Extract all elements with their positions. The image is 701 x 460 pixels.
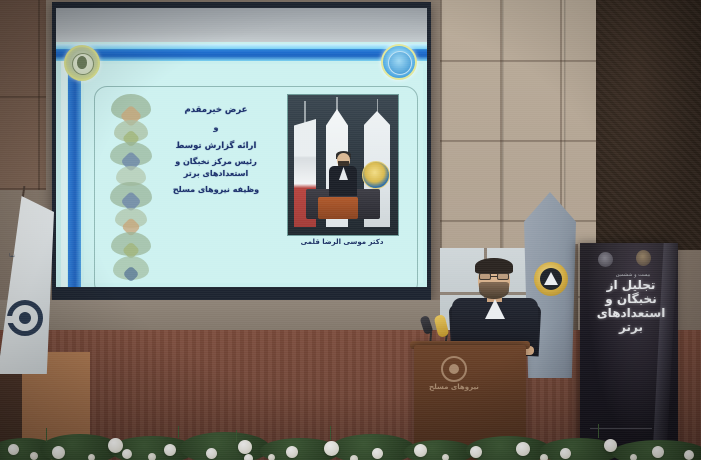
slide-vertical-bar bbox=[68, 61, 81, 287]
main-speaker bbox=[452, 258, 538, 354]
flower-arrangement bbox=[0, 424, 701, 460]
tile-line bbox=[440, 220, 600, 222]
inset-speaker bbox=[328, 153, 358, 195]
blue-globe-emblem-icon bbox=[381, 44, 417, 80]
wall-seam bbox=[0, 96, 46, 98]
inset-photo-caption: دکتر موسی الرضا قلمی bbox=[287, 238, 397, 246]
inset-podium-front bbox=[318, 197, 358, 219]
conference-photo: عرض خیرمقدم و ارائه گزارش توسط رئیس مرکز… bbox=[0, 0, 701, 460]
spiral-circle-logo-icon bbox=[7, 300, 43, 336]
slide-header-band bbox=[56, 44, 427, 61]
speaker-hair bbox=[475, 258, 513, 274]
presentation-slide: عرض خیرمقدم و ارائه گزارش توسط رئیس مرکز… bbox=[56, 42, 427, 287]
slide-line-3: رئیس مرکز نخبگان و استعدادهای برتر bbox=[152, 156, 280, 181]
slide-text-block: عرض خیرمقدم و ارائه گزارش توسط رئیس مرکز… bbox=[152, 104, 280, 196]
tile-line bbox=[440, 140, 600, 142]
gold-ring-emblem-inner bbox=[540, 268, 562, 290]
left-banner-text: نما bbox=[4, 252, 20, 286]
slide-vertical-bar-edge bbox=[61, 61, 67, 287]
emblem-glyph bbox=[77, 56, 87, 69]
wall-dark-textured-panel bbox=[596, 0, 701, 250]
podium-spiral-logo-icon bbox=[441, 356, 467, 382]
slide-conjunction: و bbox=[152, 122, 280, 134]
slide-band-glow bbox=[56, 44, 427, 49]
glasses-lens-left bbox=[479, 273, 491, 280]
glasses-lens-right bbox=[497, 273, 509, 280]
flag-emblem-logo-icon bbox=[362, 161, 390, 189]
banner-calligraphy: تجلیل از نخبگان و استعدادهای برتر bbox=[588, 278, 674, 322]
seal-emblem-icon bbox=[598, 252, 613, 267]
wreath-seal-emblem-icon bbox=[64, 45, 100, 81]
gold-seal-emblem-icon bbox=[636, 250, 651, 266]
slide-line-4: وظیفه نیروهای مسلح bbox=[152, 184, 280, 196]
slide-inset-photo bbox=[287, 94, 399, 236]
speaker-beard bbox=[479, 282, 509, 299]
slide-line-1: عرض خیرمقدم bbox=[152, 104, 280, 117]
tile-line bbox=[440, 60, 600, 62]
podium-script-text: نیروهای مسلح bbox=[428, 383, 480, 391]
persian-floral-ornament-icon bbox=[108, 94, 154, 286]
slide-line-2: ارائه گزارش توسط bbox=[152, 140, 280, 153]
emblem-ring bbox=[388, 51, 412, 75]
glasses-icon bbox=[479, 273, 509, 280]
wall-seam bbox=[38, 0, 40, 190]
